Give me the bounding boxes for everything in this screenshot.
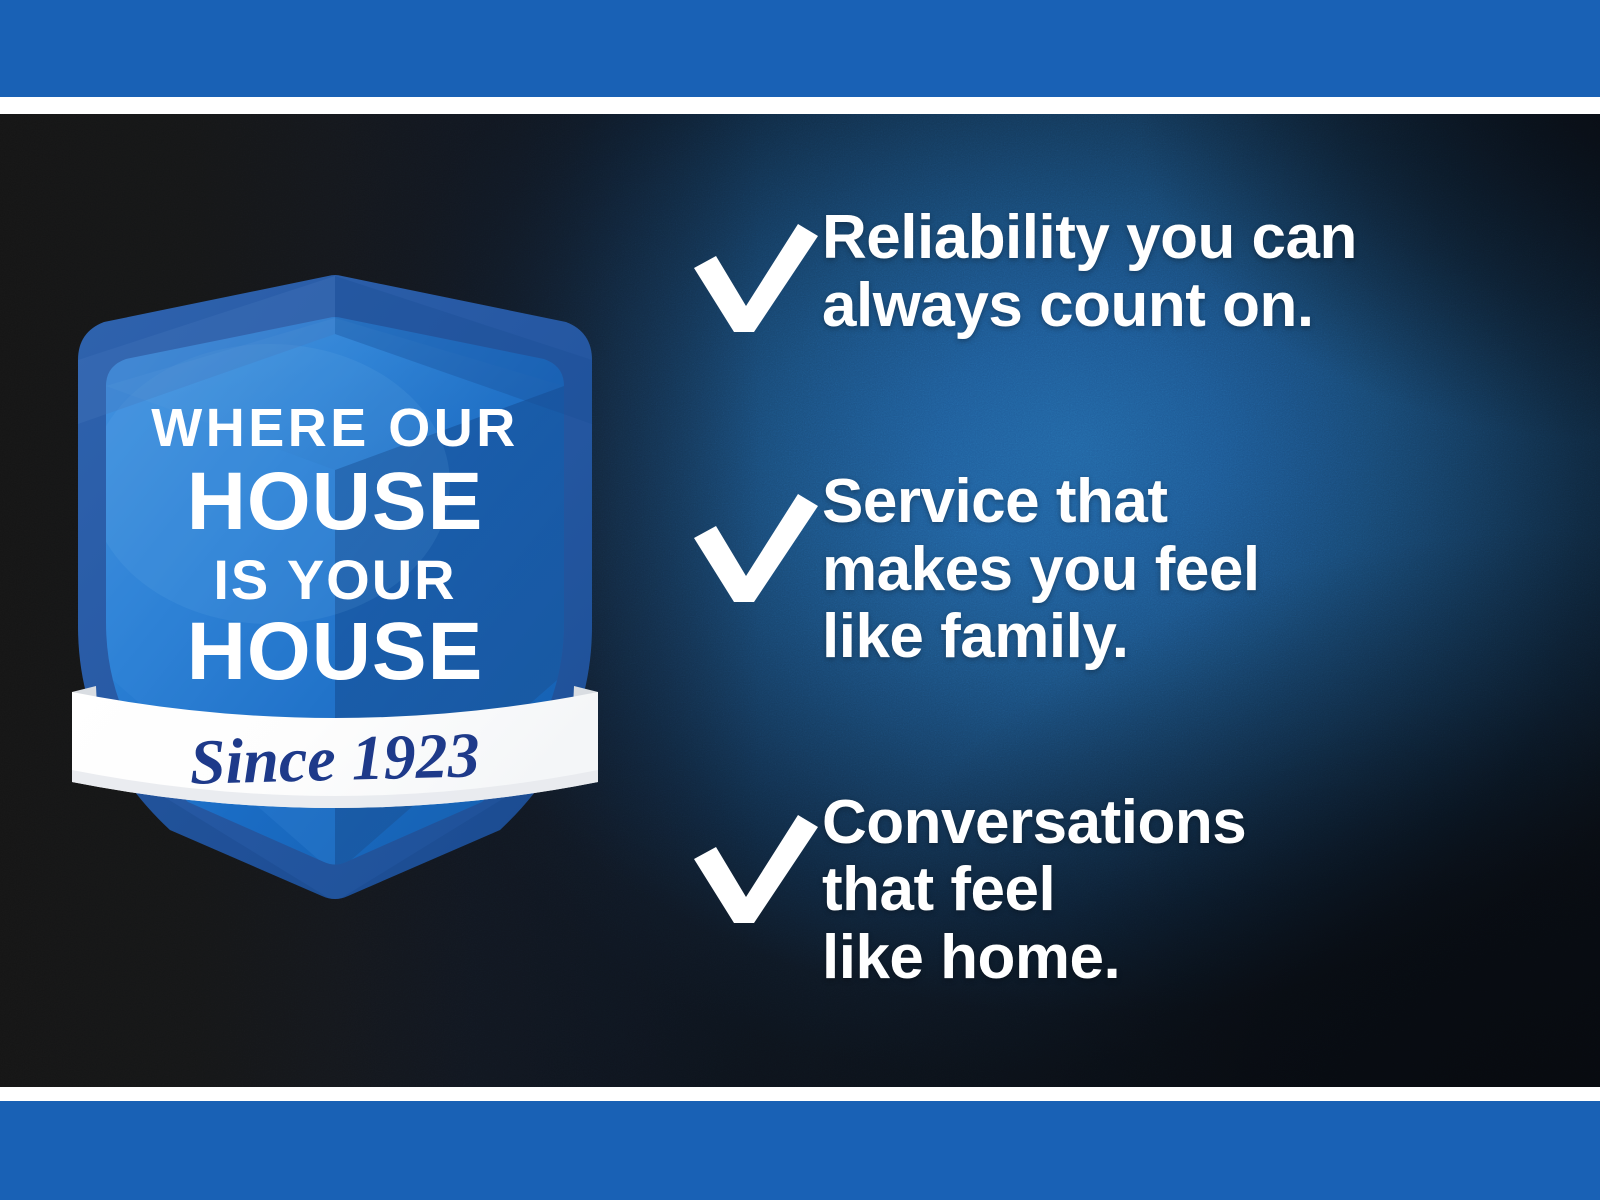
checklist-line: like home.: [822, 924, 1552, 992]
checklist-line: like family.: [822, 603, 1552, 671]
checklist-line: always count on.: [822, 272, 1552, 340]
badge-tagline-line-2: HOUSE: [187, 456, 484, 547]
checklist: Reliability you can always count on. Ser…: [672, 204, 1552, 991]
checklist-item-text: Service that makes you feel like family.: [822, 468, 1552, 671]
checklist-item-conversations: Conversations that feel like home.: [672, 789, 1552, 992]
badge-tagline-line-1: WHERE OUR: [151, 398, 519, 458]
checklist-item-text: Conversations that feel like home.: [822, 789, 1552, 992]
badge-tagline-line-4: HOUSE: [187, 606, 484, 697]
top-brand-bar: [0, 0, 1600, 97]
checklist-line: Reliability you can: [822, 204, 1552, 272]
shield-badge: WHERE OUR HOUSE IS YOUR HOUSE Sin: [70, 274, 600, 904]
checklist-item-service: Service that makes you feel like family.: [672, 468, 1552, 671]
checklist-item-reliability: Reliability you can always count on.: [672, 204, 1552, 340]
checklist-item-text: Reliability you can always count on.: [822, 204, 1552, 339]
badge-tagline-line-3: IS YOUR: [213, 548, 456, 611]
checkmark-icon: [672, 468, 822, 610]
badge-banner-text: Since 1923: [189, 719, 481, 798]
checklist-line: that feel: [822, 856, 1552, 924]
checklist-line: makes you feel: [822, 536, 1552, 604]
poster-canvas: WHERE OUR HOUSE IS YOUR HOUSE Sin: [0, 114, 1600, 1087]
checklist-line: Conversations: [822, 789, 1552, 857]
checkmark-icon: [672, 204, 822, 340]
promo-poster: WHERE OUR HOUSE IS YOUR HOUSE Sin: [0, 0, 1600, 1200]
checklist-line: Service that: [822, 468, 1552, 536]
checkmark-icon: [672, 789, 822, 931]
bottom-brand-bar: [0, 1101, 1600, 1200]
